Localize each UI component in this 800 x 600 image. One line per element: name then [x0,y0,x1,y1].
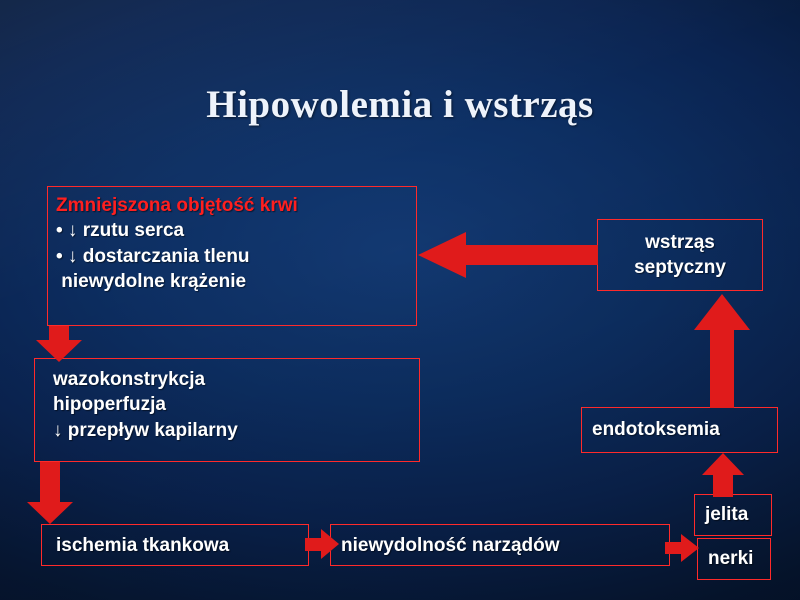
arrow-vasoconstriction-to-ischemia-icon [27,462,73,524]
box-endotoxemia: endotoksemia [581,407,778,453]
box-blood-volume-line-1: • ↓ rzutu serca [56,218,408,243]
box-vasoconstriction-line-2: hipoperfuzja [53,392,411,417]
box-endotoxemia-label: endotoksemia [592,417,720,442]
box-kidneys: nerki [697,538,771,580]
arrow-shaft [710,326,734,408]
box-vasoconstriction-line-3: ↓ przepływ kapilarny [53,418,411,443]
box-blood-volume-heading: Zmniejszona objętość krwi [56,193,408,218]
arrow-head [36,340,82,362]
box-blood-volume-line-2: • ↓ dostarczania tlenu [56,244,408,269]
box-septic-shock-line-2: septyczny [598,255,762,280]
box-organ-failure: niewydolność narządów [330,524,670,566]
arrow-head [321,529,339,559]
box-intestines: jelita [694,494,772,536]
box-vasoconstriction: wazokonstrykcja hipoperfuzja ↓ przepływ … [34,358,420,462]
box-septic-shock-line-1: wstrząs [598,230,762,255]
box-blood-volume: Zmniejszona objętość krwi • ↓ rzutu serc… [47,186,417,326]
box-blood-volume-line-3: niewydolne krążenie [56,269,408,294]
box-intestines-label: jelita [705,502,748,527]
arrow-shaft [464,245,598,265]
arrow-head [681,534,699,562]
page-title: Hipowolemia i wstrząs [0,82,800,127]
arrow-intestines-to-endotoxemia-icon [702,453,744,497]
box-organ-failure-label: niewydolność narządów [341,533,669,558]
arrow-endotoxemia-to-septic-shock-icon [694,294,750,408]
arrow-blood-volume-to-vasoconstriction-icon [36,326,82,362]
arrow-ischemia-to-organ-failure-icon [305,529,339,559]
box-ischemia-label: ischemia tkankowa [56,533,308,558]
arrow-shaft [40,462,60,502]
box-septic-shock: wstrząs septyczny [597,219,763,291]
box-vasoconstriction-line-1: wazokonstrykcja [53,367,411,392]
slide-canvas: Hipowolemia i wstrząs Zmniejszona objęto… [0,0,800,600]
arrow-septic-shock-to-blood-volume-icon [418,232,598,278]
box-ischemia: ischemia tkankowa [41,524,309,566]
box-kidneys-label: nerki [708,546,753,571]
arrow-head [27,502,73,524]
arrow-head [418,232,466,278]
arrow-head [702,453,744,475]
arrow-organ-failure-to-kidneys-icon [665,534,699,562]
arrow-head [694,294,750,330]
